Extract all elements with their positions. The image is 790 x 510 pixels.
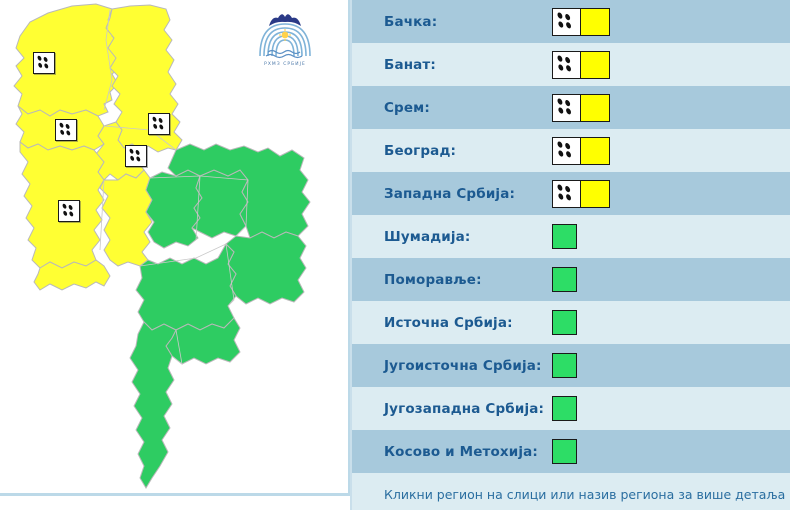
severity-indicator[interactable]	[552, 224, 577, 249]
region-warning-list: Бачка: Банат:	[352, 0, 790, 510]
map-region-yellow-central-strip[interactable]	[100, 170, 152, 266]
region-row-kosovo-i-metohija[interactable]: Косово и Метохија:	[352, 430, 790, 473]
region-row-sumadija[interactable]: Шумадија:	[352, 215, 790, 258]
region-row-backa[interactable]: Бачка:	[352, 0, 790, 43]
instruction-note: Кликни регион на слици или назив региона…	[352, 473, 790, 510]
region-label: Поморавље:	[384, 272, 552, 288]
region-label: Источна Србија:	[384, 315, 552, 331]
weather-warning-page: РХМЗ СРБИЈЕ Бачка: Банат:	[0, 0, 790, 510]
severity-swatch-yellow	[580, 51, 610, 79]
map-marker-backa[interactable]	[33, 52, 55, 74]
severity-swatch-green	[552, 224, 577, 249]
region-row-srem[interactable]: Срем:	[352, 86, 790, 129]
map-marker-banat[interactable]	[148, 113, 170, 135]
map-region-sumadija[interactable]	[146, 170, 202, 248]
rain-icon	[552, 51, 580, 79]
map-marker-beograd[interactable]	[125, 145, 147, 167]
region-label: Срем:	[384, 100, 552, 116]
severity-indicator[interactable]	[552, 137, 610, 165]
serbia-map-svg[interactable]	[0, 0, 350, 496]
rain-icon	[126, 146, 145, 165]
region-row-pomoravlje[interactable]: Поморавље:	[352, 258, 790, 301]
region-label: Западна Србија:	[384, 186, 552, 202]
rain-icon	[552, 137, 580, 165]
severity-swatch-green	[552, 439, 577, 464]
severity-indicator[interactable]	[552, 94, 610, 122]
severity-indicator[interactable]	[552, 353, 577, 378]
severity-swatch-yellow	[580, 180, 610, 208]
rain-icon	[552, 180, 580, 208]
rain-icon	[59, 201, 78, 220]
region-row-beograd[interactable]: Београд:	[352, 129, 790, 172]
severity-swatch-yellow	[580, 94, 610, 122]
region-label: Бачка:	[384, 14, 552, 30]
severity-swatch-yellow	[580, 8, 610, 36]
severity-indicator[interactable]	[552, 439, 577, 464]
region-label: Југоисточна Србија:	[384, 358, 552, 374]
region-row-zapadna-srbija[interactable]: Западна Србија:	[352, 172, 790, 215]
severity-indicator[interactable]	[552, 267, 577, 292]
severity-swatch-green	[552, 267, 577, 292]
severity-swatch-green	[552, 310, 577, 335]
rain-icon	[56, 120, 75, 139]
region-row-istocna-srbija[interactable]: Источна Србија:	[352, 301, 790, 344]
serbia-warning-map[interactable]: РХМЗ СРБИЈЕ	[0, 0, 350, 496]
map-marker-zapadna-srbija[interactable]	[58, 200, 80, 222]
map-region-jugoistocna-srbija[interactable]	[226, 232, 306, 304]
severity-swatch-yellow	[580, 137, 610, 165]
region-row-jugozapadna-srbija[interactable]: Југозападна Србија:	[352, 387, 790, 430]
map-region-pomoravlje[interactable]	[192, 170, 248, 238]
region-label: Југозападна Србија:	[384, 401, 552, 417]
region-label: Косово и Метохија:	[384, 444, 552, 460]
rain-icon	[552, 94, 580, 122]
region-row-banat[interactable]: Банат:	[352, 43, 790, 86]
region-label: Шумадија:	[384, 229, 552, 245]
region-label: Београд:	[384, 143, 552, 159]
severity-indicator[interactable]	[552, 51, 610, 79]
severity-swatch-green	[552, 353, 577, 378]
severity-indicator[interactable]	[552, 180, 610, 208]
region-label: Банат:	[384, 57, 552, 73]
rain-icon	[149, 114, 168, 133]
severity-indicator[interactable]	[552, 8, 610, 36]
map-marker-srem[interactable]	[55, 119, 77, 141]
map-panel: РХМЗ СРБИЈЕ	[0, 0, 352, 510]
map-region-backa[interactable]	[14, 4, 122, 116]
map-region-jugozapadna-srbija[interactable]	[136, 244, 236, 330]
rain-icon	[552, 8, 580, 36]
severity-swatch-green	[552, 396, 577, 421]
rhmz-serbia-logo: РХМЗ СРБИЈЕ	[256, 8, 314, 70]
logo-caption: РХМЗ СРБИЈЕ	[264, 61, 306, 67]
region-row-jugoistocna-srbija[interactable]: Југоисточна Србија:	[352, 344, 790, 387]
rain-icon	[34, 53, 53, 72]
map-region-zapadna-srbija-extension[interactable]	[34, 260, 110, 290]
severity-indicator[interactable]	[552, 310, 577, 335]
severity-indicator[interactable]	[552, 396, 577, 421]
